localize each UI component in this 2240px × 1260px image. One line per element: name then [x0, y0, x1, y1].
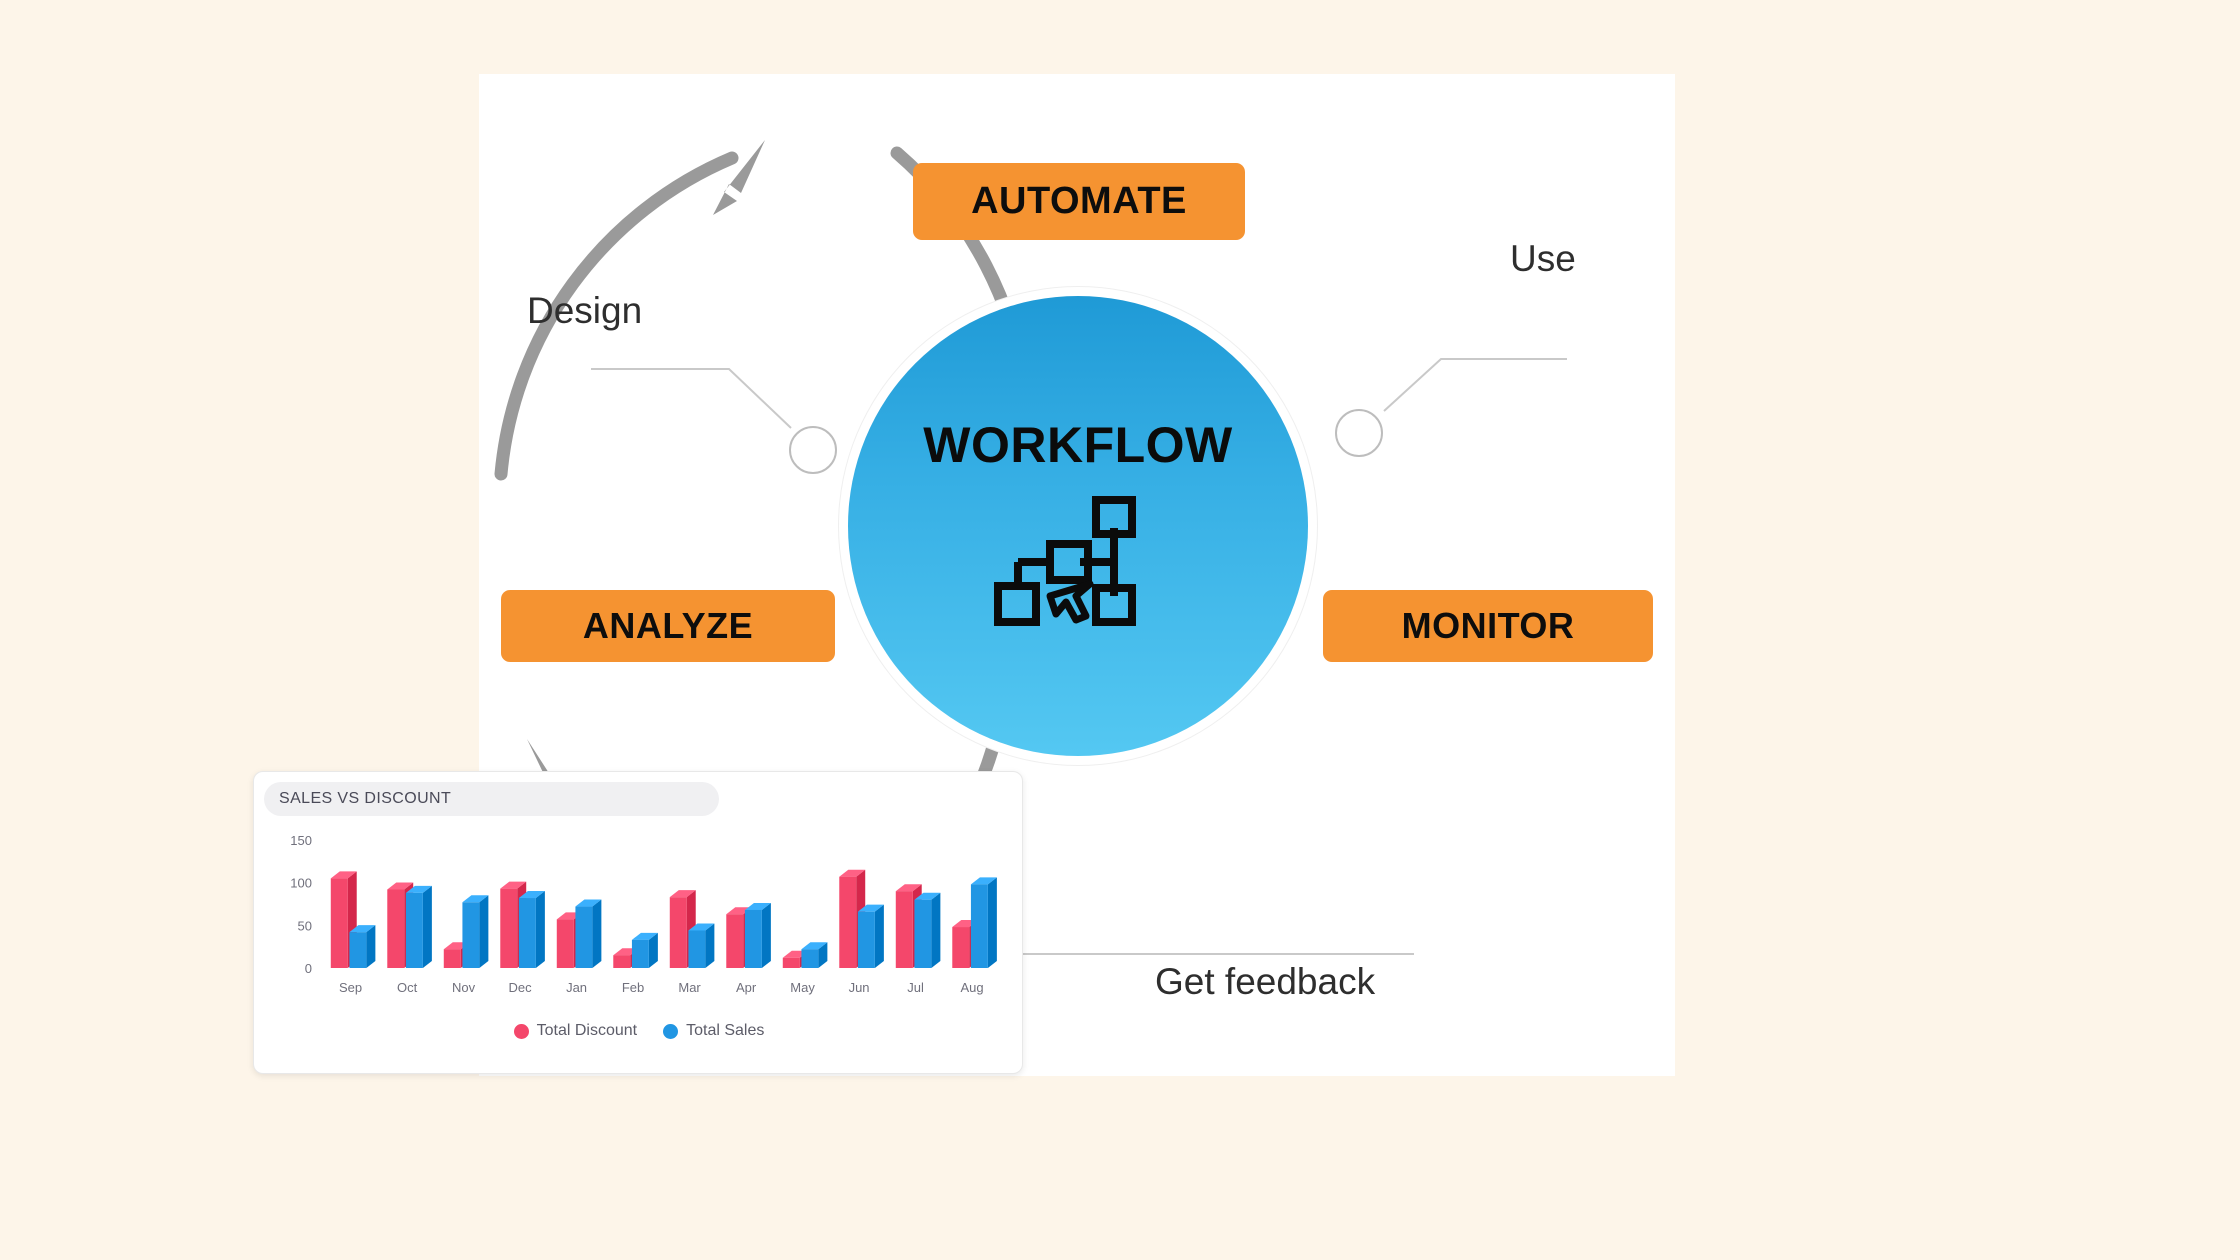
x-axis-tick: Jul [907, 980, 924, 995]
stage-button-analyze[interactable]: ANALYZE [501, 590, 835, 662]
x-axis-tick: Sep [339, 980, 362, 995]
leader-line-design [591, 369, 791, 428]
x-axis-tick: Jan [566, 980, 587, 995]
bar-front-face [387, 889, 404, 968]
chart-legend: Total DiscountTotal Sales [254, 1022, 1023, 1040]
legend-label: Total Sales [686, 1022, 764, 1040]
bar-front-face [726, 914, 743, 968]
bar-front-face [914, 900, 931, 968]
bar-front-face [801, 949, 818, 968]
bar-total-sales-Jun[interactable] [858, 905, 884, 968]
legend-color-dot [514, 1024, 529, 1039]
y-axis-tick: 150 [290, 833, 312, 848]
hub-title: WORKFLOW [923, 416, 1232, 474]
connector-label-design: Design [527, 290, 642, 332]
legend-item-total-sales[interactable]: Total Sales [663, 1022, 764, 1040]
bar-total-sales-Mar[interactable] [688, 923, 714, 968]
bar-front-face [519, 898, 536, 968]
x-axis-tick: Mar [678, 980, 701, 995]
bar-side-face [931, 893, 940, 968]
x-axis-tick: Nov [452, 980, 476, 995]
bar-front-face [575, 907, 592, 968]
x-axis-tick: Apr [736, 980, 757, 995]
bar-total-sales-Sep[interactable] [349, 925, 375, 968]
workflow-flowchart-cursor-icon [988, 492, 1168, 642]
leader-line-use [1384, 359, 1567, 411]
legend-label: Total Discount [537, 1022, 638, 1040]
node-design[interactable] [790, 427, 836, 473]
stage-label-automate: AUTOMATE [971, 180, 1187, 223]
stage-label-analyze: ANALYZE [583, 605, 753, 647]
bar-front-face [406, 893, 423, 968]
bar-front-face [745, 910, 762, 968]
y-axis-tick: 0 [305, 961, 312, 976]
bar-side-face [705, 923, 714, 968]
bar-side-face [536, 891, 545, 968]
bar-front-face [349, 932, 366, 968]
legend-item-total-discount[interactable]: Total Discount [514, 1022, 638, 1040]
chart-plot-area: 050100150SepOctNovDecJanFebMarAprMayJunJ… [254, 820, 1023, 1074]
bar-front-face [858, 912, 875, 968]
bar-front-face [444, 949, 461, 968]
bar-front-face [500, 889, 517, 968]
bar-front-face [613, 955, 630, 968]
bar-front-face [839, 877, 856, 968]
stage-button-monitor[interactable]: MONITOR [1323, 590, 1653, 662]
bar-front-face [557, 919, 574, 968]
bar-side-face [423, 886, 432, 968]
bar-total-sales-Aug[interactable] [971, 877, 997, 968]
x-axis-tick: Feb [622, 980, 644, 995]
x-axis-tick: May [790, 980, 815, 995]
legend-color-dot [663, 1024, 678, 1039]
x-axis-tick: Oct [397, 980, 418, 995]
bar-total-sales-May[interactable] [801, 942, 827, 968]
bar-side-face [366, 925, 375, 968]
bar-side-face [988, 877, 997, 968]
bar-front-face [688, 930, 705, 968]
bar-side-face [875, 905, 884, 968]
sales-vs-discount-card: SALES VS DISCOUNT 050100150SepOctNovDecJ… [253, 771, 1023, 1074]
bar-front-face [783, 958, 800, 968]
arrowhead-to-automate [713, 140, 765, 215]
x-axis-tick: Jun [849, 980, 870, 995]
y-axis-tick: 100 [290, 876, 312, 891]
bar-front-face [462, 902, 479, 968]
bar-total-sales-Dec[interactable] [519, 891, 545, 968]
bar-total-sales-Feb[interactable] [632, 933, 658, 968]
bar-total-sales-Apr[interactable] [745, 903, 771, 968]
bar-front-face [331, 878, 348, 968]
connector-label-get-feedback: Get feedback [1155, 961, 1375, 1003]
bar-front-face [971, 884, 988, 968]
bar-total-sales-Oct[interactable] [406, 886, 432, 968]
y-axis-tick: 50 [298, 918, 312, 933]
bar-front-face [632, 940, 649, 968]
bar-chart-svg: 050100150SepOctNovDecJanFebMarAprMayJunJ… [254, 820, 1023, 1020]
bar-side-face [479, 895, 488, 968]
x-axis-tick: Aug [961, 980, 984, 995]
connector-label-use: Use [1510, 238, 1576, 280]
bar-front-face [896, 891, 913, 968]
bar-front-face [952, 927, 969, 968]
bar-total-sales-Jan[interactable] [575, 900, 601, 968]
node-use[interactable] [1336, 410, 1382, 456]
bar-total-sales-Nov[interactable] [462, 895, 488, 968]
chart-title: SALES VS DISCOUNT [279, 790, 451, 808]
bar-side-face [762, 903, 771, 968]
workflow-hub-circle: WORKFLOW [848, 296, 1308, 756]
bar-front-face [670, 897, 687, 968]
chart-header: SALES VS DISCOUNT [264, 782, 719, 816]
stage-button-automate[interactable]: AUTOMATE [913, 163, 1245, 240]
bar-side-face [592, 900, 601, 968]
stage-label-monitor: MONITOR [1402, 605, 1575, 647]
bar-total-sales-Jul[interactable] [914, 893, 940, 968]
x-axis-tick: Dec [509, 980, 533, 995]
